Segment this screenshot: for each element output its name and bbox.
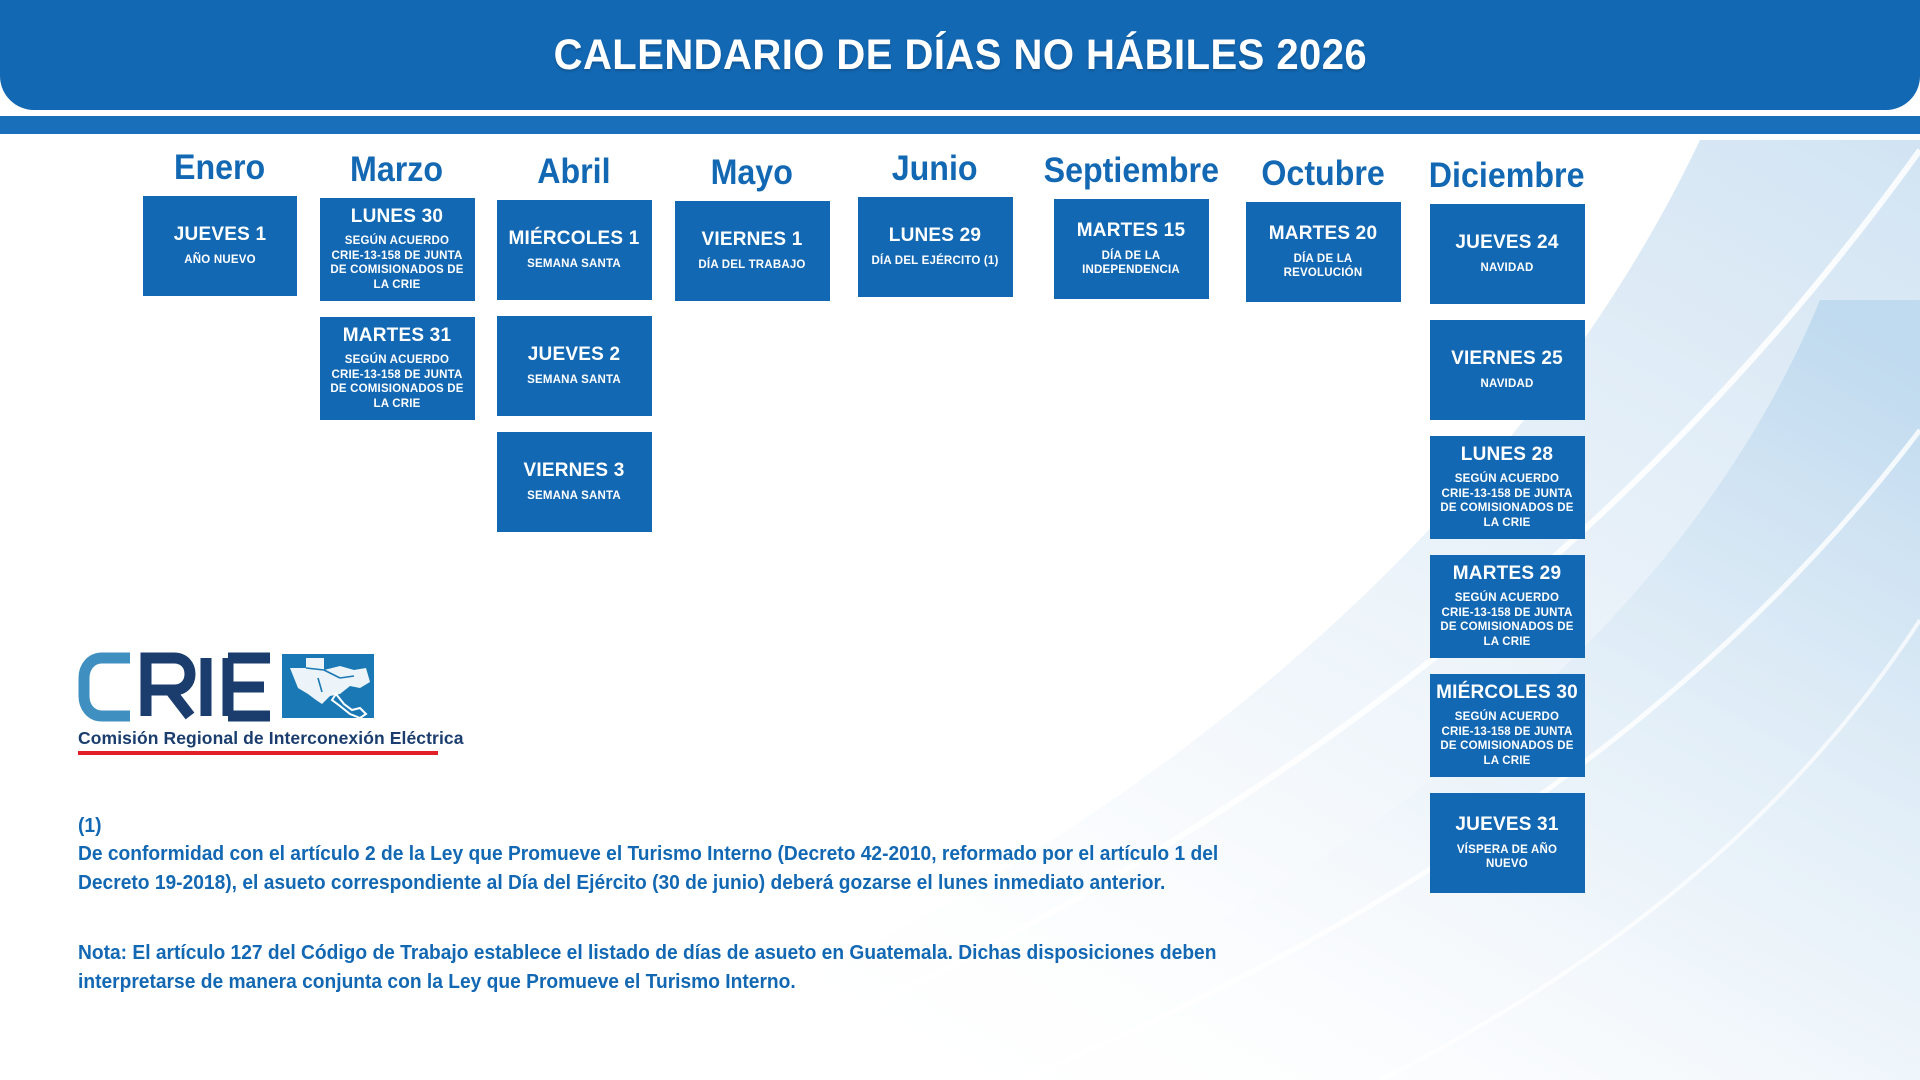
month-column-octubre: OctubreMARTES 20DÍA DE LA REVOLUCIÓN (1234, 150, 1412, 318)
holiday-day-label: JUEVES 2 (528, 344, 620, 366)
holiday-description: SEGÚN ACUERDO CRIE-13-158 DE JUNTA DE CO… (1439, 591, 1576, 649)
holiday-day-label: JUEVES 31 (1455, 814, 1558, 836)
holiday-card[interactable]: VIERNES 1DÍA DEL TRABAJO (675, 201, 830, 301)
holiday-description: SEMANA SANTA (527, 257, 621, 271)
holiday-day-label: VIERNES 3 (523, 460, 624, 482)
holiday-description: SEMANA SANTA (527, 373, 621, 387)
holiday-description: VÍSPERA DE AÑO NUEVO (1439, 843, 1576, 872)
header-banner: CALENDARIO DE DÍAS NO HÁBILES 2026 (0, 0, 1920, 110)
month-title: Octubre (1261, 156, 1384, 193)
holiday-day-label: MARTES 15 (1077, 220, 1185, 242)
month-cards: JUEVES 1AÑO NUEVO (132, 196, 308, 312)
page-title: CALENDARIO DE DÍAS NO HÁBILES 2026 (553, 31, 1367, 80)
month-cards: LUNES 30SEGÚN ACUERDO CRIE-13-158 DE JUN… (308, 198, 486, 436)
holiday-card[interactable]: LUNES 30SEGÚN ACUERDO CRIE-13-158 DE JUN… (320, 198, 475, 301)
notes-section: (1) De conformidad con el artículo 2 de … (78, 812, 1328, 996)
holiday-card[interactable]: JUEVES 1AÑO NUEVO (143, 196, 297, 296)
holiday-day-label: MARTES 31 (343, 325, 451, 347)
month-column-septiembre: SeptiembreMARTES 15DÍA DE LA INDEPENDENC… (1028, 150, 1234, 315)
holiday-description: DÍA DE LA INDEPENDENCIA (1063, 249, 1200, 278)
nota-text: Nota: El artículo 127 del Código de Trab… (78, 939, 1278, 996)
holiday-description: NAVIDAD (1481, 261, 1534, 275)
holiday-day-label: MIÉRCOLES 1 (509, 228, 640, 250)
month-cards: VIERNES 1DÍA DEL TRABAJO (662, 201, 842, 317)
holiday-day-label: MARTES 29 (1453, 563, 1561, 585)
holiday-card[interactable]: JUEVES 24NAVIDAD (1430, 204, 1585, 304)
holiday-day-label: MIÉRCOLES 30 (1436, 682, 1578, 704)
holiday-card[interactable]: MARTES 15DÍA DE LA INDEPENDENCIA (1054, 199, 1209, 299)
logo-tagline: Comisión Regional de Interconexión Eléct… (78, 728, 464, 749)
holiday-description: SEGÚN ACUERDO CRIE-13-158 DE JUNTA DE CO… (329, 234, 466, 292)
holiday-card[interactable]: MARTES 20DÍA DE LA REVOLUCIÓN (1246, 202, 1401, 302)
month-column-diciembre: DiciembreJUEVES 24NAVIDADVIERNES 25NAVID… (1412, 150, 1602, 909)
month-title: Enero (174, 150, 265, 187)
holiday-description: DÍA DEL TRABAJO (698, 258, 805, 272)
holiday-card[interactable]: LUNES 29DÍA DEL EJÉRCITO (1) (858, 197, 1013, 297)
holiday-card[interactable]: MARTES 31SEGÚN ACUERDO CRIE-13-158 DE JU… (320, 317, 475, 420)
month-column-enero: EneroJUEVES 1AÑO NUEVO (132, 150, 308, 312)
logo-underline (78, 751, 438, 755)
month-column-abril: AbrilMIÉRCOLES 1SEMANA SANTAJUEVES 2SEMA… (486, 150, 662, 548)
month-column-marzo: MarzoLUNES 30SEGÚN ACUERDO CRIE-13-158 D… (308, 150, 486, 436)
footnote-marker: (1) (78, 812, 1278, 840)
holiday-description: SEMANA SANTA (527, 489, 621, 503)
calendar-grid: EneroJUEVES 1AÑO NUEVOMarzoLUNES 30SEGÚN… (0, 150, 1920, 670)
holiday-day-label: MARTES 20 (1269, 223, 1377, 245)
holiday-day-label: LUNES 29 (889, 225, 981, 247)
footnote-text: De conformidad con el artículo 2 de la L… (78, 840, 1278, 897)
holiday-card[interactable]: MIÉRCOLES 30SEGÚN ACUERDO CRIE-13-158 DE… (1430, 674, 1585, 777)
month-title: Marzo (350, 152, 443, 189)
crie-logo-mark (78, 648, 378, 726)
holiday-card[interactable]: LUNES 28SEGÚN ACUERDO CRIE-13-158 DE JUN… (1430, 436, 1585, 539)
month-title: Mayo (711, 155, 793, 192)
holiday-card[interactable]: VIERNES 25NAVIDAD (1430, 320, 1585, 420)
month-cards: JUEVES 24NAVIDADVIERNES 25NAVIDADLUNES 2… (1412, 204, 1602, 909)
month-column-junio: JunioLUNES 29DÍA DEL EJÉRCITO (1) (842, 150, 1028, 313)
holiday-card[interactable]: MIÉRCOLES 1SEMANA SANTA (497, 200, 652, 300)
holiday-description: NAVIDAD (1481, 377, 1534, 391)
holiday-card[interactable]: MARTES 29SEGÚN ACUERDO CRIE-13-158 DE JU… (1430, 555, 1585, 658)
month-title: Abril (537, 154, 610, 191)
month-cards: LUNES 29DÍA DEL EJÉRCITO (1) (842, 197, 1028, 313)
month-title: Diciembre (1429, 158, 1585, 195)
holiday-card[interactable]: VIERNES 3SEMANA SANTA (497, 432, 652, 532)
holiday-description: SEGÚN ACUERDO CRIE-13-158 DE JUNTA DE CO… (1439, 710, 1576, 768)
holiday-day-label: LUNES 30 (351, 206, 443, 228)
month-cards: MIÉRCOLES 1SEMANA SANTAJUEVES 2SEMANA SA… (486, 200, 662, 548)
holiday-day-label: JUEVES 24 (1455, 232, 1558, 254)
month-column-mayo: MayoVIERNES 1DÍA DEL TRABAJO (662, 150, 842, 317)
month-title: Junio (892, 151, 978, 188)
month-cards: MARTES 20DÍA DE LA REVOLUCIÓN (1234, 202, 1412, 318)
holiday-day-label: JUEVES 1 (174, 224, 266, 246)
holiday-card[interactable]: JUEVES 2SEMANA SANTA (497, 316, 652, 416)
header-accent-strip (0, 116, 1920, 134)
month-cards: MARTES 15DÍA DE LA INDEPENDENCIA (1028, 199, 1234, 315)
holiday-description: DÍA DE LA REVOLUCIÓN (1255, 252, 1392, 281)
holiday-day-label: VIERNES 1 (701, 229, 802, 251)
holiday-description: SEGÚN ACUERDO CRIE-13-158 DE JUNTA DE CO… (1439, 472, 1576, 530)
month-title: Septiembre (1043, 153, 1218, 190)
holiday-description: DÍA DEL EJÉRCITO (1) (871, 254, 998, 268)
holiday-description: AÑO NUEVO (184, 253, 255, 267)
holiday-card[interactable]: JUEVES 31VÍSPERA DE AÑO NUEVO (1430, 793, 1585, 893)
holiday-description: SEGÚN ACUERDO CRIE-13-158 DE JUNTA DE CO… (329, 353, 466, 411)
crie-logo: Comisión Regional de Interconexión Eléct… (78, 648, 464, 755)
holiday-day-label: LUNES 28 (1461, 444, 1553, 466)
holiday-day-label: VIERNES 25 (1451, 348, 1563, 370)
